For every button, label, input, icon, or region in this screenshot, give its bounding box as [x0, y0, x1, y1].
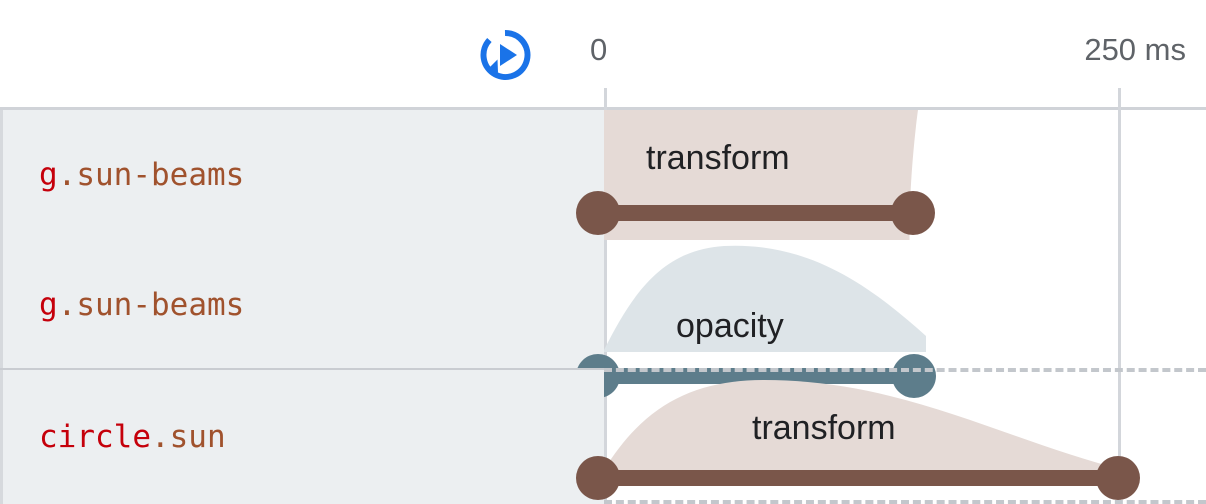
selector-class: .sun-beams — [58, 157, 245, 193]
property-name: opacity — [676, 306, 784, 346]
selector-element: g — [39, 287, 58, 323]
animation-row[interactable]: g.sun-beams opacity — [0, 240, 1206, 370]
row-track[interactable]: opacity — [604, 240, 1206, 370]
keyframe-end-handle[interactable] — [891, 191, 935, 235]
animation-rows: g.sun-beams transform g.sun-beams — [0, 110, 1206, 504]
selector-text: circle.sun — [39, 419, 226, 455]
selector-text: g.sun-beams — [39, 287, 244, 323]
selector-element: g — [39, 157, 58, 193]
keyframe-start-handle[interactable] — [576, 191, 620, 235]
property-name: transform — [752, 408, 896, 448]
keyframe-end-handle[interactable] — [1096, 456, 1140, 500]
property-name: transform — [646, 138, 790, 178]
keyframe-bar[interactable] — [598, 470, 1118, 486]
keyframe-start-handle[interactable] — [576, 456, 620, 500]
selector-class: .sun-beams — [58, 287, 245, 323]
row-track[interactable]: transform — [604, 370, 1206, 504]
animation-row[interactable]: circle.sun transform — [0, 370, 1206, 504]
timeline-header: 0 250 ms — [0, 0, 1206, 110]
replay-icon[interactable] — [477, 27, 533, 83]
animation-row[interactable]: g.sun-beams transform — [0, 110, 1206, 240]
selector-text: g.sun-beams — [39, 157, 244, 193]
selector-element: circle — [39, 419, 151, 455]
ruler-label-start: 0 — [590, 30, 607, 70]
row-track[interactable]: transform — [604, 110, 1206, 240]
animations-timeline-panel: 0 250 ms g.sun-beams transform — [0, 0, 1206, 504]
ruler-label-end: 250 ms — [938, 30, 1186, 70]
selector-class: .sun — [151, 419, 226, 455]
row-selector-label[interactable]: circle.sun — [0, 370, 604, 504]
easing-curve-region — [604, 240, 1206, 370]
row-selector-label[interactable]: g.sun-beams — [0, 110, 604, 240]
row-selector-label[interactable]: g.sun-beams — [0, 240, 604, 370]
row-separator-dashed — [604, 500, 1206, 504]
keyframe-bar[interactable] — [598, 205, 913, 221]
replay-play-icon-svg — [477, 27, 533, 83]
